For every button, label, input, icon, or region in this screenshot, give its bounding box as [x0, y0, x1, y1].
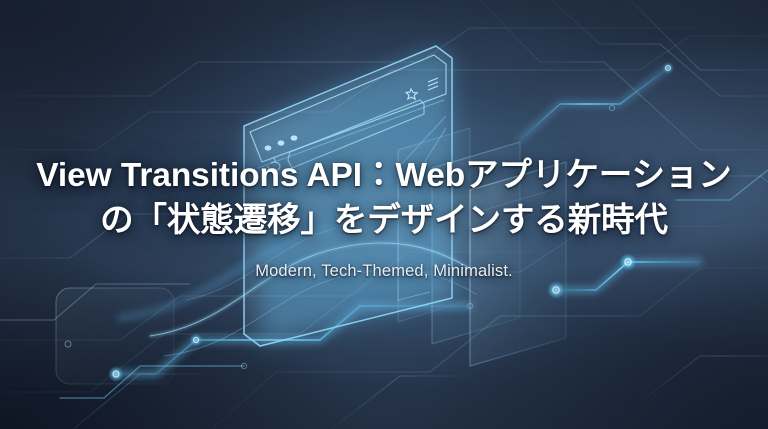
- hero-text-block: View Transitions API：Webアプリケーションの「状態遷移」を…: [0, 0, 768, 429]
- page-title: View Transitions API：Webアプリケーションの「状態遷移」を…: [34, 154, 734, 243]
- page-subtitle: Modern, Tech-Themed, Minimalist.: [255, 262, 513, 281]
- hero-banner: View Transitions API：Webアプリケーションの「状態遷移」を…: [0, 0, 768, 429]
